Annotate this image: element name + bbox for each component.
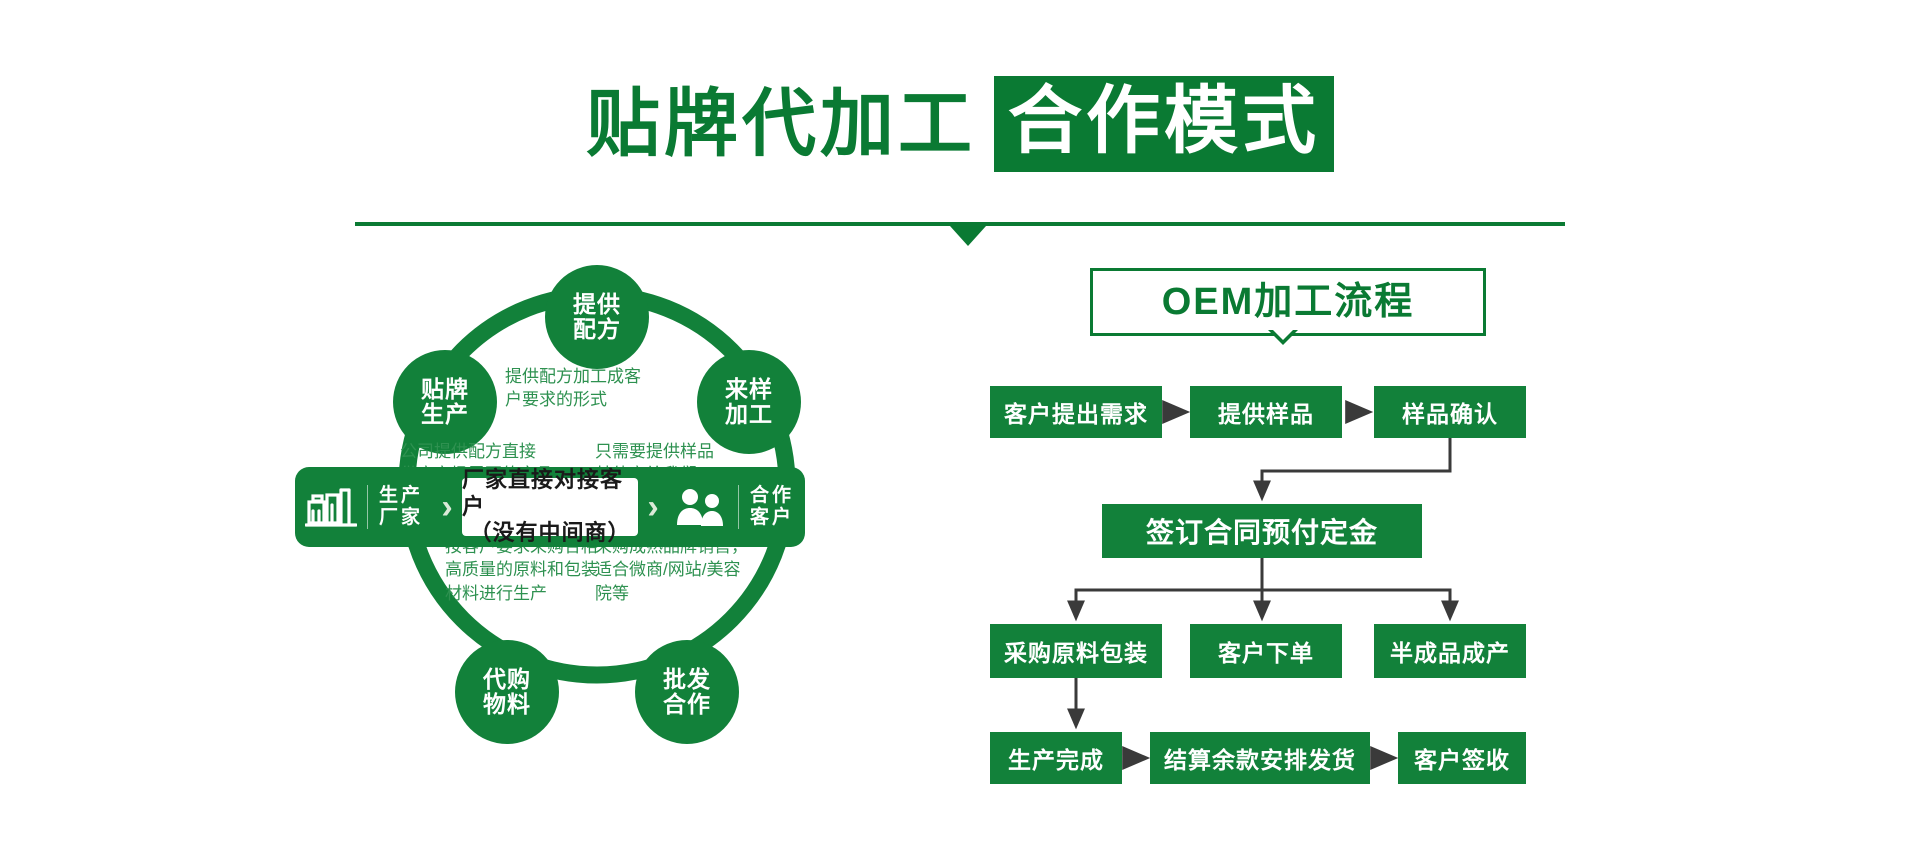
cycle-node-line2: 加工 — [725, 402, 773, 427]
section-divider — [355, 222, 1565, 248]
cycle-node-wholesale[interactable]: 批发 合作 — [635, 640, 739, 744]
cooperation-cycle-diagram: 提供 配方 贴牌 生产 来样 加工 代购 物料 批发 合作 提供配方加工成客 户… — [340, 255, 900, 805]
flow-step-settle-balance-ship[interactable]: 结算余款安排发货 — [1150, 732, 1370, 784]
cycle-node-line2: 物料 — [483, 692, 531, 717]
flow-step-sample-confirm[interactable]: 样品确认 — [1374, 386, 1526, 438]
factory-label-line1: 生产 — [378, 485, 424, 507]
oem-process-flowchart: OEM加工流程 客户提出需求 提供样品 样品确认 签订合同预付定金 采购原料包装… — [990, 268, 1590, 788]
flow-step-production-complete[interactable]: 生产完成 — [990, 732, 1122, 784]
cycle-node-line1: 贴牌 — [421, 377, 469, 402]
cycle-node-line1: 提供 — [573, 292, 621, 317]
cycle-node-oem-production[interactable]: 贴牌 生产 — [393, 350, 497, 454]
customers-label-line2: 客户 — [749, 507, 795, 529]
direct-connection-line2: （没有中间商） — [469, 520, 630, 546]
cycle-node-supply-formula[interactable]: 提供 配方 — [545, 265, 649, 369]
desc-line2: 适合微商/网站/美容 — [595, 558, 795, 581]
flow-step-sign-contract-deposit[interactable]: 签订合同预付定金 — [1102, 504, 1422, 558]
customers-label: 合作 客户 — [739, 485, 805, 529]
cycle-node-sample-processing[interactable]: 来样 加工 — [697, 350, 801, 454]
flow-step-customer-order[interactable]: 客户下单 — [1190, 624, 1342, 678]
flow-step-semi-finished-production[interactable]: 半成品成产 — [1374, 624, 1526, 678]
direct-connection-line1: 厂家直接对接客户 — [462, 467, 638, 520]
cycle-node-line1: 代购 — [483, 667, 531, 692]
factory-icon — [295, 485, 367, 529]
title-plain-text: 贴牌代加工 — [586, 87, 976, 161]
title-boxed-text: 合作模式 — [994, 76, 1334, 172]
cycle-node-material-purchase[interactable]: 代购 物料 — [455, 640, 559, 744]
factory-label-line2: 厂家 — [378, 507, 424, 529]
cycle-desc-supply-formula: 提供配方加工成客 户要求的形式 — [505, 365, 705, 412]
desc-line3: 院等 — [595, 582, 795, 605]
cycle-node-line1: 批发 — [663, 667, 711, 692]
flow-step-provide-sample[interactable]: 提供样品 — [1190, 386, 1342, 438]
chevron-right-icon-right: › — [640, 490, 666, 524]
customers-label-line1: 合作 — [749, 485, 795, 507]
cycle-node-line2: 生产 — [421, 402, 469, 427]
desc-line1: 公司提供配方直接 — [400, 440, 600, 463]
desc-line1: 只需要提供样品 — [595, 440, 795, 463]
desc-line2: 户要求的形式 — [505, 388, 705, 411]
desc-line1: 提供配方加工成客 — [505, 365, 705, 388]
page-title: 贴牌代加工 合作模式 — [0, 78, 1920, 170]
cycle-node-line1: 来样 — [725, 377, 773, 402]
direct-connection-message: 厂家直接对接客户 （没有中间商） — [462, 478, 638, 536]
factory-label: 生产 厂家 — [368, 485, 434, 529]
chevron-right-icon-left: › — [434, 490, 460, 524]
direct-connection-bar: 生产 厂家 › 厂家直接对接客户 （没有中间商） › 合作 客户 — [295, 467, 805, 547]
flow-step-purchase-materials[interactable]: 采购原料包装 — [990, 624, 1162, 678]
cycle-node-line2: 配方 — [573, 317, 621, 342]
customers-icon — [666, 485, 738, 529]
cycle-node-line2: 合作 — [663, 692, 711, 717]
flow-step-customer-requirement[interactable]: 客户提出需求 — [990, 386, 1162, 438]
flow-step-customer-receipt[interactable]: 客户签收 — [1398, 732, 1526, 784]
divider-down-triangle-icon — [950, 226, 986, 246]
